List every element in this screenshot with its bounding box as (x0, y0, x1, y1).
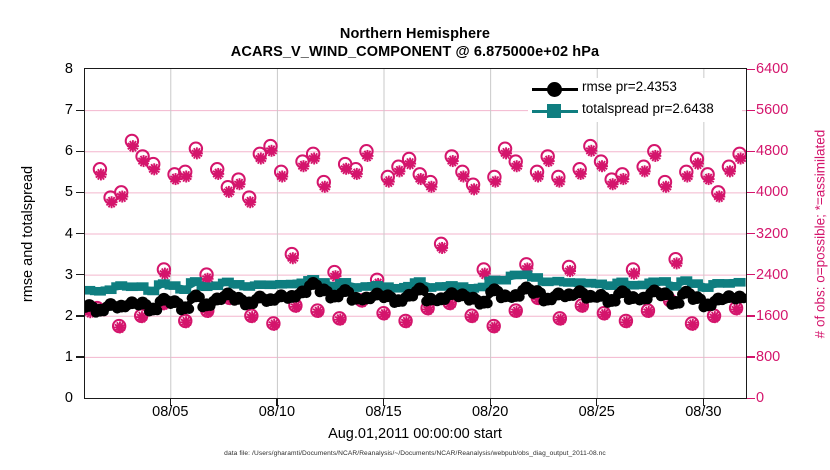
legend-label-rmse: rmse pr=2.4353 (582, 79, 677, 94)
y-axis-left-tick (76, 192, 84, 193)
y-axis-left-tick (76, 110, 84, 111)
y-axis-left-tick-label: 8 (33, 61, 73, 77)
y-axis-right-tick (747, 192, 755, 193)
y-axis-right-tick-label: 0 (756, 390, 816, 406)
y-axis-right-tick (747, 69, 755, 70)
filled-square-icon (547, 104, 561, 118)
x-axis-tick-label: 08/25 (579, 404, 615, 420)
y-axis-left-tick-label: 4 (33, 226, 73, 242)
chart-legend: rmse pr=2.4353 totalspread pr=2.6438 (528, 78, 742, 122)
x-axis-tick-label: 08/05 (152, 404, 188, 420)
y-axis-left-tick (76, 356, 84, 357)
chart-title: ACARS_V_WIND_COMPONENT @ 6.875000e+02 hP… (0, 44, 830, 60)
obs-assimilated-asterisk-icon (735, 153, 746, 165)
y-axis-left-tick-label: 5 (33, 184, 73, 200)
y-axis-left-tick-label: 0 (33, 390, 73, 406)
legend-item-totalspread: totalspread pr=2.6438 (528, 100, 742, 122)
y-axis-left-tick-label: 6 (33, 143, 73, 159)
data-file-footer: data file: /Users/gharamti/Documents/NCA… (0, 450, 830, 457)
chart-subtitle: Northern Hemisphere (0, 26, 830, 42)
y-axis-right-tick (747, 151, 755, 152)
x-axis-tick-label: 08/20 (472, 404, 508, 420)
x-axis-title: Aug.01,2011 00:00:00 start (0, 426, 830, 442)
x-axis-tick-label: 08/10 (259, 404, 295, 420)
y-axis-right-tick (747, 398, 755, 399)
y-axis-left-tick-label: 1 (33, 349, 73, 365)
y-axis-right-tick-label: 5600 (756, 102, 816, 118)
y-axis-left-tick (76, 233, 84, 234)
y-axis-right-tick (747, 110, 755, 111)
y-axis-right-tick-label: 4800 (756, 143, 816, 159)
plot-page: Northern Hemisphere ACARS_V_WIND_COMPONE… (0, 0, 830, 470)
y-axis-left-tick-label: 7 (33, 102, 73, 118)
y-axis-right-tick-label: 800 (756, 349, 816, 365)
y-axis-right-tick-label: 1600 (756, 308, 816, 324)
legend-label-totalspread: totalspread pr=2.6438 (582, 101, 714, 116)
y-axis-left-tick (76, 274, 84, 275)
y-axis-right-tick-label: 2400 (756, 267, 816, 283)
y-axis-right-tick (747, 274, 755, 275)
legend-item-rmse: rmse pr=2.4353 (528, 78, 742, 100)
y-axis-right-tick-label: 3200 (756, 226, 816, 242)
filled-circle-icon (547, 82, 562, 97)
y-axis-right-tick-label: 6400 (756, 61, 816, 77)
y-axis-left-tick-label: 3 (33, 267, 73, 283)
y-axis-left-tick (76, 315, 84, 316)
y-axis-left-tick (76, 151, 84, 152)
y-axis-left-tick-label: 2 (33, 308, 73, 324)
x-axis-tick-label: 08/30 (685, 404, 721, 420)
y-axis-right-tick (747, 315, 755, 316)
y-axis-right-tick-label: 4000 (756, 184, 816, 200)
x-axis-tick-label: 08/15 (365, 404, 401, 420)
y-axis-right-tick (747, 233, 755, 234)
y-axis-right-tick (747, 356, 755, 357)
